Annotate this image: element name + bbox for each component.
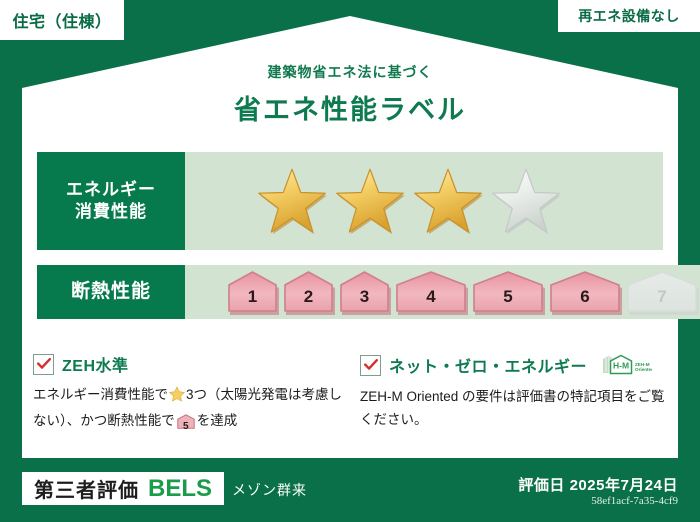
insulation-level-value: 2 [281, 287, 336, 307]
insulation-level-value: 4 [393, 287, 469, 307]
evaluation-date-label: 評価日 [518, 477, 565, 494]
insulation-level-7: 7 [624, 269, 700, 315]
insulation-level-6: 6 [547, 269, 623, 315]
insulation-level-value: 7 [624, 287, 700, 307]
energy-label-line1: エネルギー [66, 179, 156, 201]
zeh-m-oriented-logo: H-M ZEH-M Oriented [600, 352, 652, 378]
tag-building-type: 住宅（住棟） [0, 0, 124, 40]
insulation-level-2: 2 [281, 269, 336, 315]
insulation-badge-value: 5 [177, 418, 195, 435]
page-title: 省エネ性能ラベル [0, 88, 700, 127]
energy-star-rating [185, 152, 663, 250]
criteria-zeh-header: ZEH水準 [33, 352, 343, 376]
insulation-level-1: 1 [225, 269, 280, 315]
row-energy-performance: エネルギー 消費性能 [37, 152, 663, 250]
criteria-zeh-body-pre: エネルギー消費性能で [33, 387, 168, 402]
tag-renewable-equipment: 再エネ設備なし [558, 0, 700, 32]
criteria-zeh-title: ZEH水準 [62, 352, 129, 376]
insulation-level-scale: 1234567 [185, 265, 700, 319]
check-icon [33, 354, 54, 375]
insulation-level-5: 5 [470, 269, 546, 315]
check-icon [360, 355, 381, 376]
energy-performance-label: 住宅（住棟） 再エネ設備なし 建築物省エネ法に基づく 省エネ性能ラベル エネルギ… [0, 0, 700, 522]
criteria-zeh-body-post: を達成 [197, 413, 238, 428]
criteria-net-zero-energy: ネット・ゼロ・エネルギー H-M ZEH-M Oriented ZEH-M Or… [360, 352, 670, 431]
title-subtitle: 建築物省エネ法に基づく [0, 62, 700, 82]
insulation-level-3: 3 [337, 269, 392, 315]
insulation-label: 断熱性能 [71, 280, 151, 305]
bels-en-text: BELS [148, 475, 212, 503]
insulation-level-value: 1 [225, 287, 280, 307]
criteria-zeh-body: エネルギー消費性能で3つ（太陽光発電は考慮しない）、かつ断熱性能で5を達成 [33, 383, 343, 436]
svg-text:H-M: H-M [613, 361, 629, 371]
criteria-nze-header: ネット・ゼロ・エネルギー H-M ZEH-M Oriented [360, 352, 670, 378]
evaluation-date-value: 2025年7月24日 [570, 477, 678, 494]
star-icon-empty [489, 165, 563, 237]
tag-building-type-label: 住宅（住棟） [12, 8, 111, 32]
tag-renewable-equipment-label: 再エネ設備なし [578, 6, 680, 26]
star-icon-filled [411, 165, 485, 237]
criteria-zeh-level: ZEH水準 エネルギー消費性能で3つ（太陽光発電は考慮しない）、かつ断熱性能で5… [33, 352, 343, 436]
insulation-badge-icon: 5 [177, 413, 195, 436]
energy-performance-label-box: エネルギー 消費性能 [37, 152, 185, 250]
evaluation-date: 評価日 2025年7月24日 [518, 474, 678, 495]
evaluation-id: 58ef1acf-7a35-4cf9 [591, 495, 678, 507]
label-footer: 第三者評価 BELS メゾン群来 評価日 2025年7月24日 58ef1acf… [0, 462, 700, 522]
building-name: メゾン群来 [232, 480, 307, 500]
insulation-performance-label-box: 断熱性能 [37, 265, 185, 319]
criteria-nze-body: ZEH-M Oriented の要件は評価書の特記項目をご覧ください。 [360, 385, 670, 431]
star-icon-filled [333, 165, 407, 237]
label-title-block: 建築物省エネ法に基づく 省エネ性能ラベル [0, 62, 700, 127]
insulation-level-value: 3 [337, 287, 392, 307]
insulation-level-value: 5 [470, 287, 546, 307]
criteria-nze-title: ネット・ゼロ・エネルギー [389, 353, 587, 377]
star-icon [169, 386, 185, 409]
row-insulation-performance: 断熱性能 1234567 [37, 265, 663, 319]
insulation-level-value: 6 [547, 287, 623, 307]
energy-label-line2: 消費性能 [75, 201, 147, 223]
bels-badge: 第三者評価 BELS [22, 472, 224, 505]
svg-text:Oriented: Oriented [635, 367, 652, 372]
bels-jp-text: 第三者評価 [34, 474, 139, 503]
star-icon-filled [255, 165, 329, 237]
insulation-level-4: 4 [393, 269, 469, 315]
